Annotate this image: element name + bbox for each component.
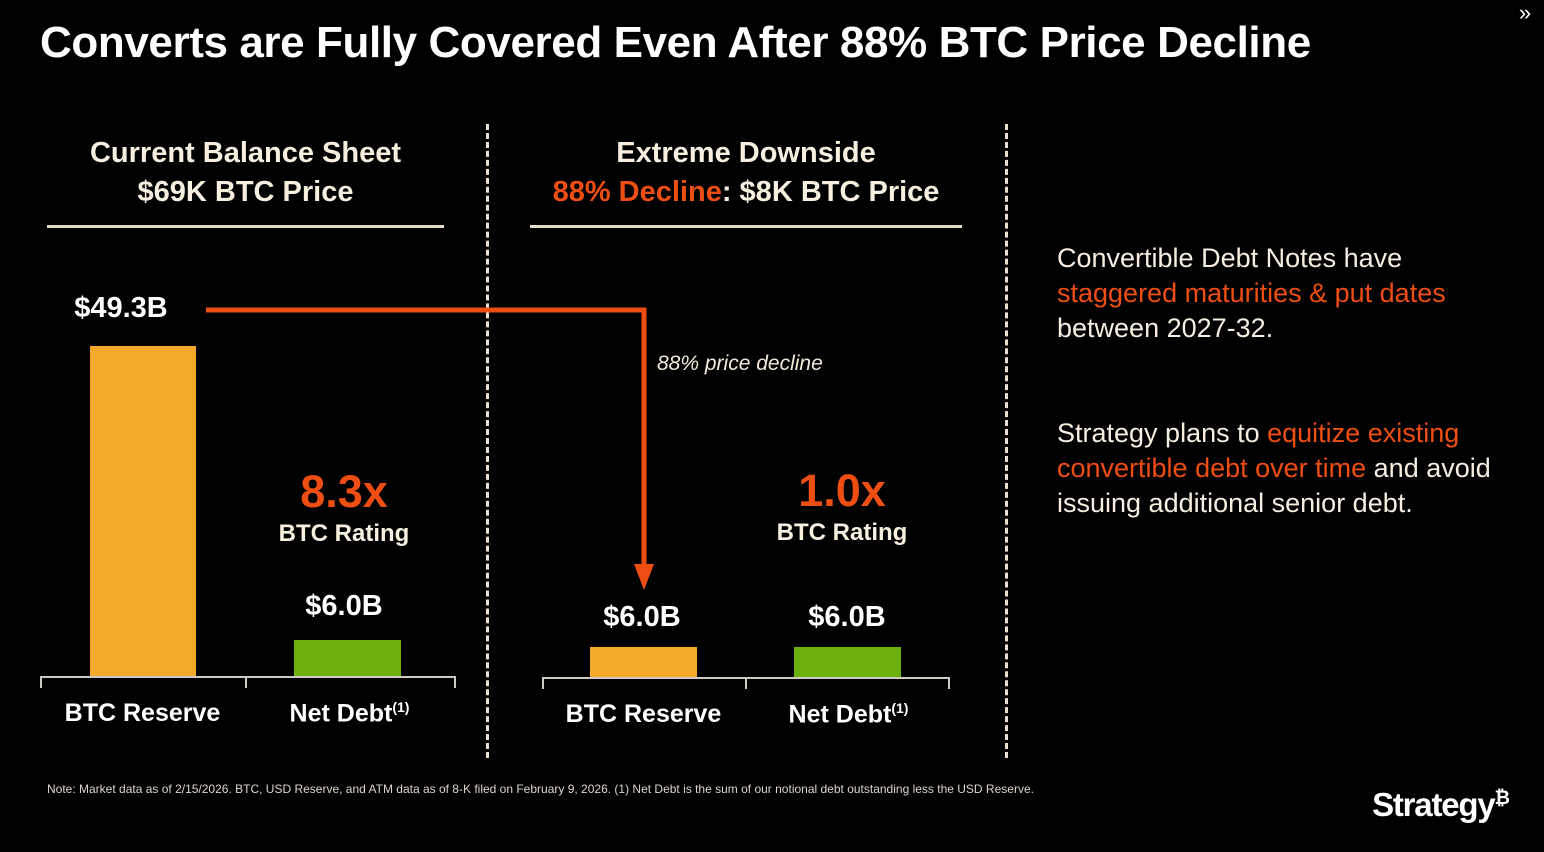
left-axis-tick-mid — [245, 677, 247, 688]
left-heading-rule — [47, 225, 444, 228]
left-rating-label: BTC Rating — [234, 517, 454, 551]
page-title: Converts are Fully Covered Even After 88… — [40, 18, 1311, 68]
commentary-paragraph-2: Strategy plans to equitize existing conv… — [1057, 416, 1497, 521]
commentary-1-part-b: between 2027-32. — [1057, 313, 1273, 343]
commentary-2-part-a: Strategy plans to — [1057, 418, 1267, 448]
right-category-btc-reserve: BTC Reserve — [542, 700, 745, 729]
panel-divider-1 — [486, 124, 489, 758]
right-heading-line1: Extreme Downside — [530, 134, 962, 173]
right-rating-value: 1.0x — [732, 466, 952, 516]
right-btc-value-label: $6.0B — [532, 601, 752, 634]
left-heading-line2: $69K BTC Price — [47, 173, 444, 212]
left-category-net-debt-text: Net Debt — [290, 699, 393, 727]
right-net-debt-bar — [794, 647, 901, 677]
right-axis-tick-start — [542, 678, 544, 689]
right-heading-rule — [530, 225, 962, 228]
right-panel-heading: Extreme Downside 88% Decline: $8K BTC Pr… — [530, 134, 962, 212]
left-panel-heading: Current Balance Sheet $69K BTC Price — [47, 134, 444, 212]
left-btc-value-label: $49.3B — [26, 292, 216, 325]
right-heading-rest: : $8K BTC Price — [722, 176, 940, 208]
left-axis-line — [40, 676, 456, 678]
decline-annotation-label: 88% price decline — [657, 352, 823, 376]
strategy-logo: Strategy₿ — [1372, 786, 1510, 824]
left-category-footnote-marker: (1) — [392, 699, 409, 715]
right-chart-panel: 1.0x BTC Rating $6.0B $6.0B BTC Reserve … — [540, 270, 952, 750]
left-heading-line1: Current Balance Sheet — [47, 134, 444, 173]
left-rating-block: 8.3x BTC Rating — [234, 467, 454, 551]
bitcoin-mark-icon: ₿ — [1495, 788, 1510, 809]
left-net-debt-bar — [294, 640, 401, 676]
right-rating-block: 1.0x BTC Rating — [732, 466, 952, 550]
right-heading-line2: 88% Decline: $8K BTC Price — [530, 173, 962, 212]
right-axis-tick-mid — [745, 678, 747, 689]
left-axis-tick-start — [40, 677, 42, 688]
commentary-1-part-a: Convertible Debt Notes have — [1057, 243, 1402, 273]
left-rating-value: 8.3x — [234, 467, 454, 517]
right-rating-label: BTC Rating — [732, 516, 952, 550]
panel-divider-2 — [1005, 124, 1008, 758]
slide-canvas: » Converts are Fully Covered Even After … — [0, 0, 1544, 852]
strategy-wordmark: Strategy — [1372, 786, 1494, 823]
left-netdebt-value-label: $6.0B — [273, 590, 415, 623]
footnote-text: Note: Market data as of 2/15/2026. BTC, … — [47, 782, 1034, 796]
right-category-net-debt-text: Net Debt — [789, 700, 892, 728]
right-category-footnote-marker: (1) — [891, 700, 908, 716]
left-category-net-debt: Net Debt(1) — [247, 699, 452, 728]
left-chart-panel: $49.3B 8.3x BTC Rating $6.0B BTC Reserve… — [36, 270, 460, 750]
left-btc-reserve-bar — [90, 346, 196, 676]
commentary-1-highlight: staggered maturities & put dates — [1057, 278, 1446, 308]
left-axis-tick-end — [454, 677, 456, 688]
right-netdebt-value-label: $6.0B — [737, 601, 957, 634]
right-category-net-debt: Net Debt(1) — [747, 700, 950, 729]
left-category-btc-reserve: BTC Reserve — [40, 699, 245, 728]
right-heading-accent: 88% Decline — [553, 176, 722, 208]
expand-chevron-icon[interactable]: » — [1512, 2, 1538, 28]
right-axis-tick-end — [948, 678, 950, 689]
right-btc-reserve-bar — [590, 647, 697, 677]
commentary-paragraph-1: Convertible Debt Notes have staggered ma… — [1057, 241, 1497, 346]
